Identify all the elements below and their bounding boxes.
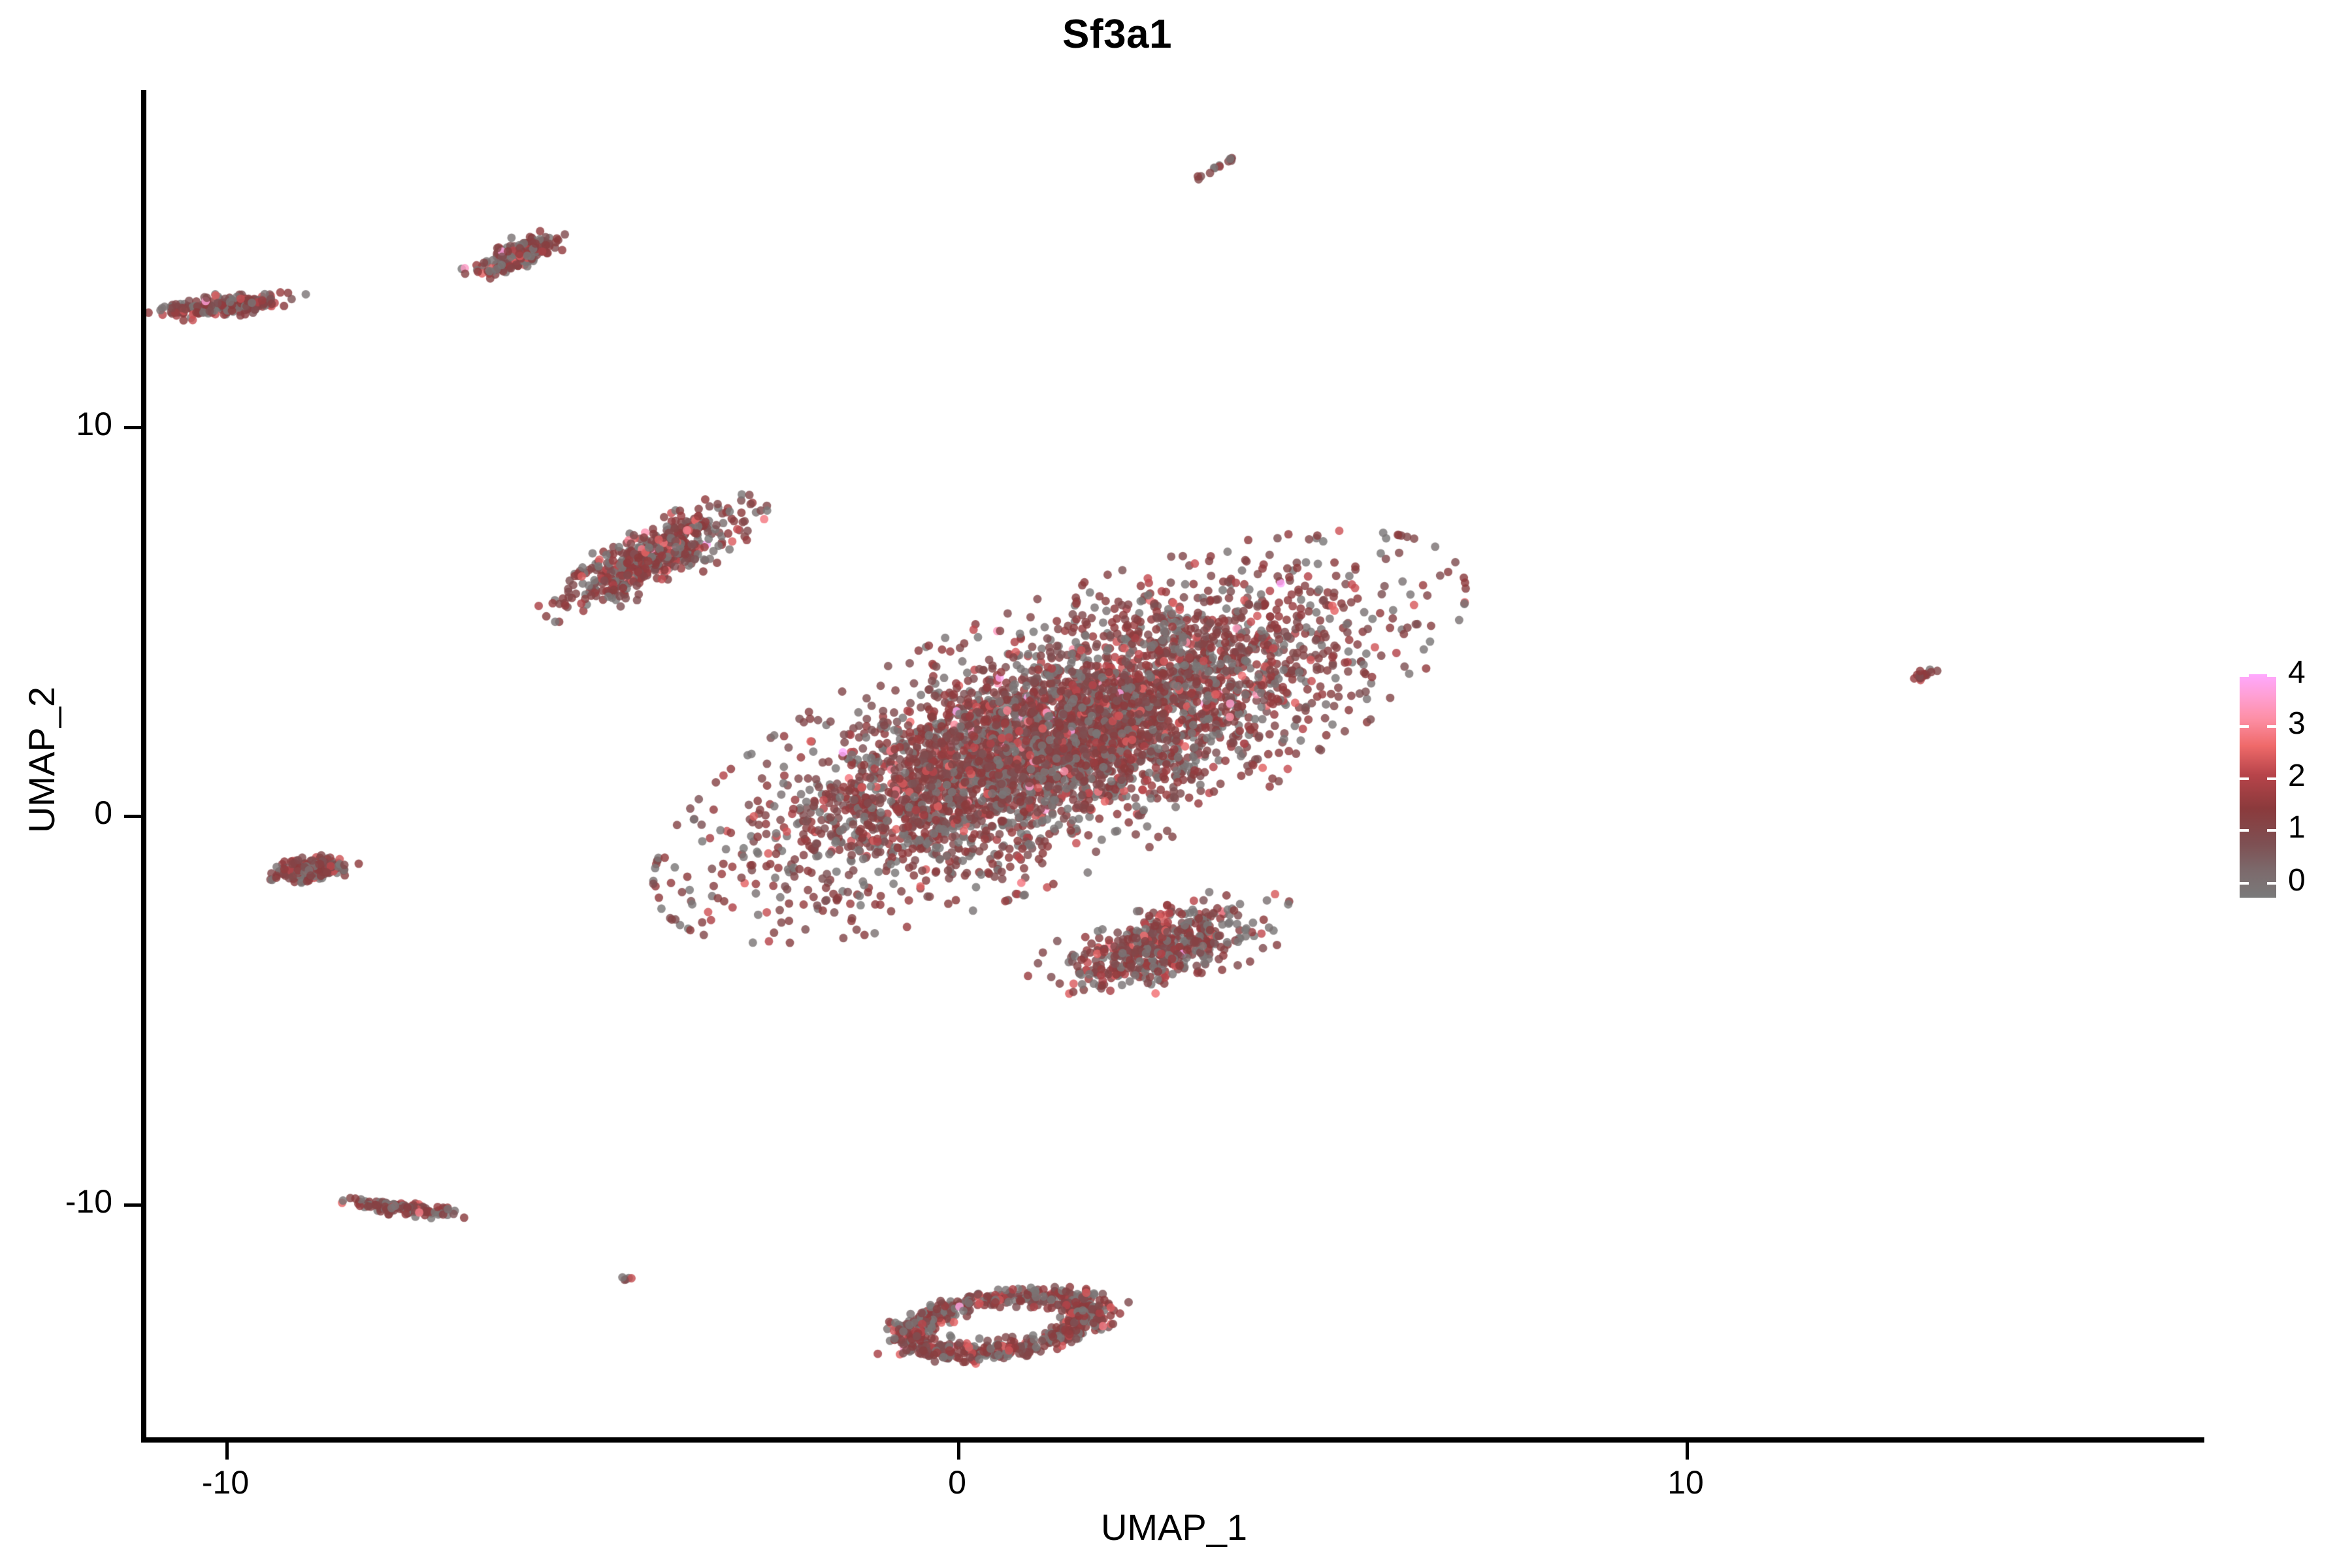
x-axis-title: UMAP_1 <box>145 1509 2203 1546</box>
legend-label-0: 0 <box>2288 865 2340 896</box>
x-tick-mark-2 <box>1686 1443 1689 1460</box>
legend-label-1: 1 <box>2288 812 2340 843</box>
y-tick-mark-0 <box>124 426 141 429</box>
color-legend: 4 3 2 1 0 <box>2234 660 2345 921</box>
y-tick-label-2: -10 <box>0 1184 112 1220</box>
page-title: Sf3a1 <box>0 14 2234 55</box>
x-tick-mark-0 <box>225 1443 229 1460</box>
scatter-points-layer <box>145 90 2203 1440</box>
y-tick-label-0: 10 <box>0 406 112 442</box>
legend-tick-4-right <box>2267 674 2276 677</box>
legend-tick-3 <box>2240 725 2249 728</box>
x-tick-label-1: 0 <box>885 1465 1029 1501</box>
legend-tick-2-right <box>2267 777 2276 780</box>
x-axis-line <box>141 1437 2204 1443</box>
umap-feature-plot: Sf3a1 -10 0 10 10 0 -10 UMAP_1 UMAP_2 4 … <box>0 0 2352 1568</box>
x-tick-label-0: -10 <box>154 1465 297 1501</box>
x-tick-label-2: 10 <box>1614 1465 1757 1501</box>
legend-label-3: 3 <box>2288 708 2340 740</box>
x-tick-mark-1 <box>957 1443 960 1460</box>
legend-tick-3-right <box>2267 725 2276 728</box>
legend-tick-0-right <box>2267 882 2276 885</box>
legend-tick-1-right <box>2267 829 2276 832</box>
y-axis-line <box>141 90 146 1443</box>
legend-colorbar <box>2240 674 2276 898</box>
plot-panel <box>145 90 2203 1440</box>
legend-label-4: 4 <box>2288 657 2340 689</box>
y-axis-title: UMAP_2 <box>24 557 60 962</box>
legend-tick-0 <box>2240 882 2249 885</box>
y-tick-mark-1 <box>124 815 141 818</box>
legend-label-2: 2 <box>2288 760 2340 792</box>
y-tick-mark-2 <box>124 1203 141 1207</box>
legend-tick-4 <box>2240 674 2249 677</box>
legend-tick-1 <box>2240 829 2249 832</box>
legend-tick-2 <box>2240 777 2249 780</box>
